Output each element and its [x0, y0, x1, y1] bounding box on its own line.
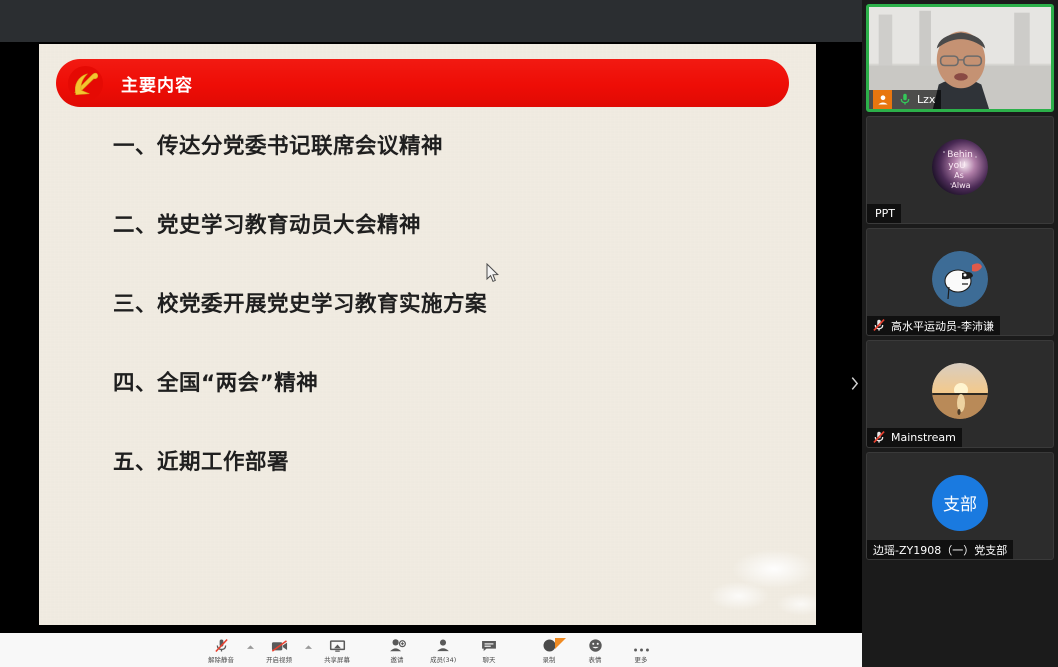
participant-tile[interactable]: 支部 边瑶-ZY1908（一）党支部: [866, 452, 1054, 560]
emoji-icon: [588, 636, 603, 653]
record-status-badge: [555, 636, 566, 654]
mic-off-icon: [872, 430, 887, 445]
svg-text:Behin: Behin: [947, 150, 973, 160]
toolbar-invite-button[interactable]: 邀请: [374, 633, 420, 667]
participant-name-strip: Lzx: [869, 90, 941, 109]
toolbar-label: 开启视频: [266, 655, 292, 664]
toolbar-label: 表情: [589, 655, 602, 664]
avatar: Behin yoU As Alwa: [932, 139, 988, 195]
outline-item: 四、全国“两会”精神: [113, 369, 773, 448]
outline-item: 二、党史学习教育动员大会精神: [113, 211, 773, 290]
toolbar-label: 成员(34): [430, 655, 456, 664]
participant-tile[interactable]: Behin yoU As Alwa PPT: [866, 116, 1054, 224]
slide-title: 主要内容: [121, 71, 193, 96]
slide-header-banner: 主要内容: [56, 59, 789, 107]
svg-text:Alwa: Alwa: [951, 181, 970, 190]
meeting-window: 主要内容 一、传达分党委书记联席会议精神 二、党史学习教育动员大会精神 三、校党…: [0, 0, 1058, 667]
participant-name-strip: 边瑶-ZY1908（一）党支部: [867, 540, 1013, 559]
presentation-slide: 主要内容 一、传达分党委书记联席会议精神 二、党史学习教育动员大会精神 三、校党…: [39, 44, 816, 625]
toolbar-label: 聊天: [483, 655, 496, 664]
toolbar-chat-button[interactable]: 聊天: [466, 633, 512, 667]
chat-icon: [481, 636, 497, 653]
video-options-chevron-up-icon[interactable]: [302, 633, 314, 667]
participant-tile[interactable]: Mainstream: [866, 340, 1054, 448]
participant-name-strip: Mainstream: [867, 428, 962, 447]
mic-off-icon: [872, 318, 887, 333]
meeting-toolbar: 解除静音 开启视频: [0, 633, 862, 667]
participant-name: Mainstream: [891, 431, 956, 444]
outline-item: 三、校党委开展党史学习教育实施方案: [113, 290, 773, 369]
screen-share-icon: [329, 636, 346, 653]
audio-options-chevron-up-icon[interactable]: [244, 633, 256, 667]
toolbar-emoji-button[interactable]: 表情: [572, 633, 618, 667]
slide-outline-list: 一、传达分党委书记联席会议精神 二、党史学习教育动员大会精神 三、校党委开展党史…: [113, 132, 773, 527]
toolbar-more-button[interactable]: 更多: [618, 633, 664, 667]
invite-icon: [389, 636, 406, 653]
toolbar-label: 录制: [543, 655, 556, 664]
toolbar-label: 共享屏幕: [324, 655, 350, 664]
host-person-icon: [873, 90, 892, 109]
svg-text:yoU: yoU: [948, 161, 965, 171]
video-off-icon: [271, 636, 288, 653]
toolbar-unmute-button[interactable]: 解除静音: [198, 633, 244, 667]
toolbar-label: 更多: [635, 655, 648, 664]
avatar: [932, 363, 988, 419]
participant-tile[interactable]: Lzx: [866, 4, 1054, 112]
participant-tile[interactable]: 高水平运动员-李沛谦: [866, 228, 1054, 336]
toolbar-label: 解除静音: [208, 655, 234, 664]
shared-screen-stage: 主要内容 一、传达分党委书记联席会议精神 二、党史学习教育动员大会精神 三、校党…: [0, 42, 862, 633]
top-bar: [0, 0, 862, 42]
avatar: 支部: [932, 475, 988, 531]
more-icon: [633, 636, 650, 653]
toolbar-start-video-button[interactable]: 开启视频: [256, 633, 302, 667]
svg-text:As: As: [954, 171, 964, 180]
mic-on-icon: [898, 92, 913, 107]
participant-name: Lzx: [917, 93, 935, 106]
participant-name-strip: 高水平运动员-李沛谦: [867, 316, 1000, 335]
participant-name: PPT: [875, 207, 895, 220]
toolbar-label: 邀请: [391, 655, 404, 664]
collapse-panel-chevron-right-icon[interactable]: [846, 366, 862, 400]
avatar-text: 支部: [943, 490, 977, 515]
outline-item: 一、传达分党委书记联席会议精神: [113, 132, 773, 211]
mouse-pointer-icon: [486, 263, 500, 283]
participant-name: 边瑶-ZY1908（一）党支部: [873, 542, 1007, 558]
mic-off-icon: [214, 636, 229, 653]
toolbar-record-button[interactable]: 录制: [526, 633, 572, 667]
members-icon: [435, 636, 451, 653]
toolbar-share-screen-button[interactable]: 共享屏幕: [314, 633, 360, 667]
participant-name: 高水平运动员-李沛谦: [891, 318, 994, 334]
toolbar-members-button[interactable]: 成员(34): [420, 633, 466, 667]
participant-rail: Lzx: [862, 0, 1058, 667]
outline-item: 五、近期工作部署: [113, 448, 773, 527]
hammer-sickle-emblem-icon: [66, 64, 105, 103]
avatar: [932, 251, 988, 307]
participant-name-strip: PPT: [867, 204, 901, 223]
